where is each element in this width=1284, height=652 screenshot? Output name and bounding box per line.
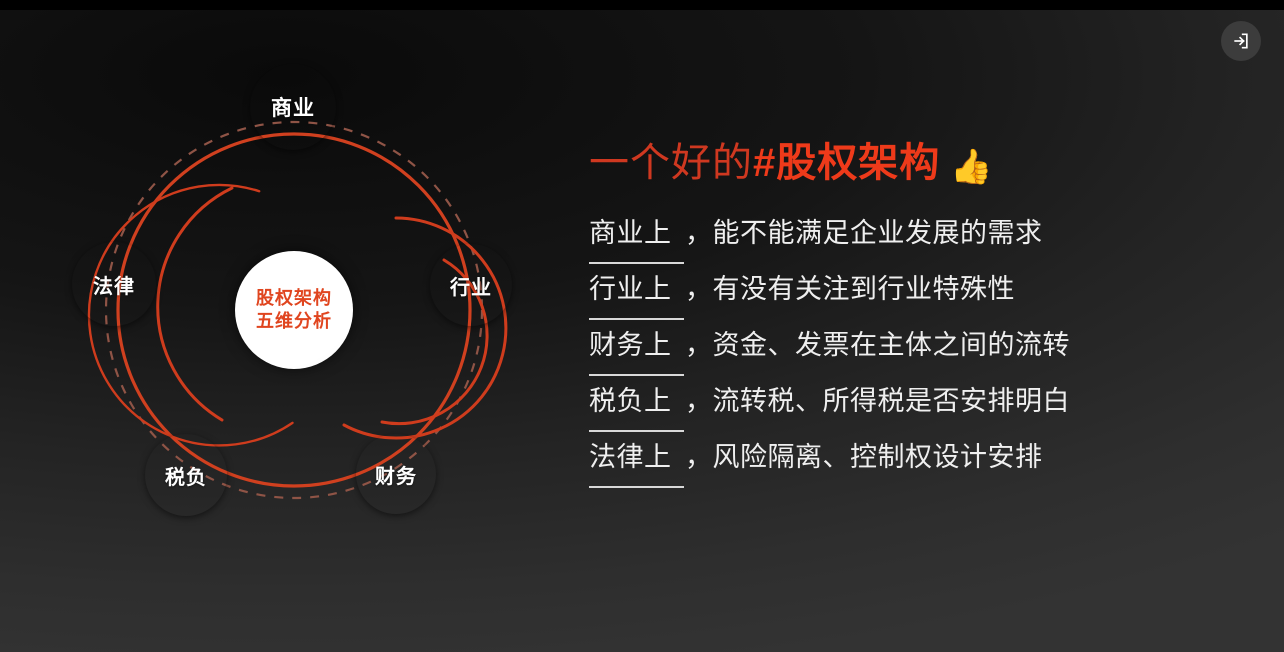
diagram-node-law[interactable]: 法律 xyxy=(72,242,156,326)
equity-structure-diagram: 股权架构 五维分析 商业 行业 财务 税负 法律 xyxy=(44,70,544,540)
bullet-separator: ， xyxy=(685,386,713,416)
letterbox-top-bar xyxy=(0,0,1284,10)
bullet-item: 商业上，能不能满足企业发展的需求 xyxy=(589,208,1249,264)
diagram-node-finance-label: 财务 xyxy=(375,460,417,489)
bullet-item: 行业上，有没有关注到行业特殊性 xyxy=(589,264,1249,320)
bullet-prefix: 法律上 xyxy=(589,432,684,488)
diagram-node-tax-label: 税负 xyxy=(165,461,207,490)
bullet-separator: ， xyxy=(685,330,713,360)
bullet-item: 税负上，流转税、所得税是否安排明白 xyxy=(589,376,1249,432)
headline-strong-part: #股权架构 xyxy=(753,141,940,185)
diagram-node-law-label: 法律 xyxy=(93,270,135,299)
bullet-prefix: 税负上 xyxy=(589,376,684,432)
diagram-node-industry[interactable]: 行业 xyxy=(430,244,512,326)
slide-headline: 一个好的#股权架构👍 xyxy=(589,138,1249,192)
inner-arc-1 xyxy=(158,188,232,420)
bullet-separator: ， xyxy=(685,218,713,248)
screen: 股权架构 五维分析 商业 行业 财务 税负 法律 一个好的# xyxy=(0,0,1284,652)
center-line-2: 五维分析 xyxy=(256,310,332,333)
bullet-prefix: 财务上 xyxy=(589,320,684,376)
diagram-node-industry-label: 行业 xyxy=(450,271,492,300)
diagram-node-business[interactable]: 商业 xyxy=(250,64,336,150)
bullet-text: 能不能满足企业发展的需求 xyxy=(713,218,1043,248)
bullet-prefix: 行业上 xyxy=(589,264,684,320)
bullet-prefix: 商业上 xyxy=(589,208,684,264)
presentation-slide: 股权架构 五维分析 商业 行业 财务 税负 法律 一个好的# xyxy=(0,10,1284,652)
bullet-item: 财务上，资金、发票在主体之间的流转 xyxy=(589,320,1249,376)
exit-arrow-icon xyxy=(1231,31,1251,51)
diagram-node-finance[interactable]: 财务 xyxy=(356,434,436,514)
center-line-1: 股权架构 xyxy=(256,287,332,310)
headline-light-part: 一个好的 xyxy=(589,141,753,185)
thumbs-up-icon: 👍 xyxy=(950,148,992,186)
bullet-text: 风险隔离、控制权设计安排 xyxy=(713,442,1043,472)
bullet-text: 有没有关注到行业特殊性 xyxy=(713,274,1016,304)
bullet-separator: ， xyxy=(685,442,713,472)
bullet-text: 流转税、所得税是否安排明白 xyxy=(713,386,1071,416)
diagram-node-tax[interactable]: 税负 xyxy=(145,434,227,516)
exit-button[interactable] xyxy=(1221,21,1261,61)
bullet-item: 法律上，风险隔离、控制权设计安排 xyxy=(589,432,1249,488)
bullet-text: 资金、发票在主体之间的流转 xyxy=(713,330,1071,360)
slide-content: 一个好的#股权架构👍 商业上，能不能满足企业发展的需求 行业上，有没有关注到行业… xyxy=(589,138,1249,488)
diagram-node-business-label: 商业 xyxy=(271,92,315,122)
diagram-center-label: 股权架构 五维分析 xyxy=(235,251,353,369)
bullet-separator: ， xyxy=(685,274,713,304)
